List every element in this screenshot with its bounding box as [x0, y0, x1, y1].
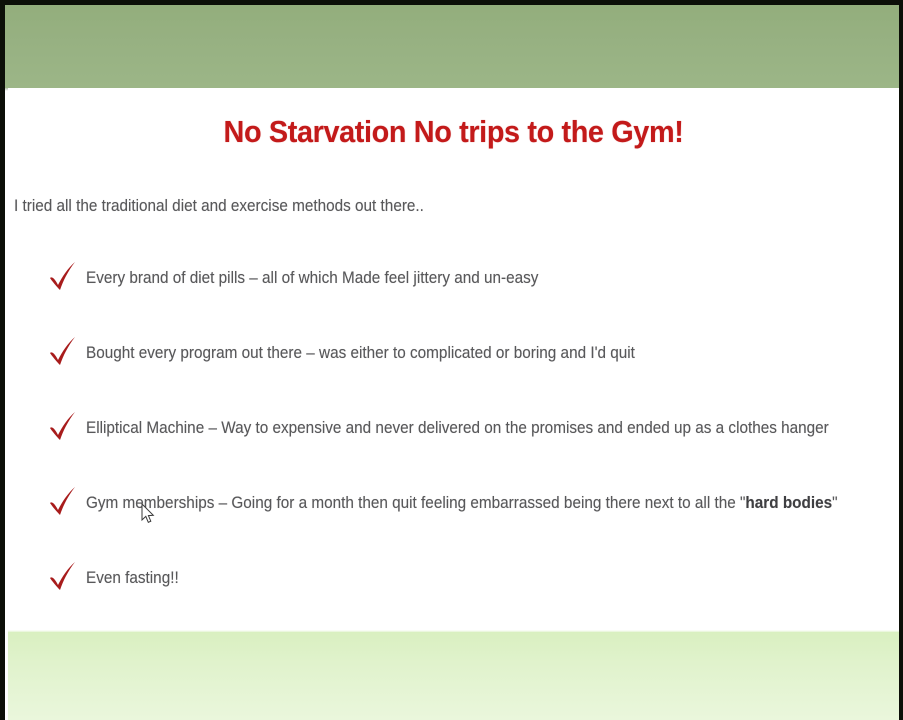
bullet-text-emphasis: hard bodies: [745, 493, 832, 512]
slide-body: No Starvation No trips to the Gym! I tri…: [8, 88, 899, 632]
frame-edge-right: [899, 0, 903, 720]
frame-edge-left: [0, 0, 5, 720]
bullet-text: Even fasting!!: [86, 568, 179, 588]
bullet-text-after: ": [832, 493, 837, 512]
bullet-text: Gym memberships – Going for a month then…: [86, 493, 838, 513]
bullet-item: Gym memberships – Going for a month then…: [8, 491, 899, 566]
bullet-text-before: Gym memberships – Going for a month then…: [86, 493, 745, 512]
bullet-text: Elliptical Machine – Way to expensive an…: [86, 418, 829, 438]
bullet-item: Every brand of diet pills – all of which…: [8, 266, 899, 341]
red-check-icon: [46, 335, 80, 369]
bullet-list: Every brand of diet pills – all of which…: [8, 266, 899, 641]
slide-title: No Starvation No trips to the Gym!: [39, 114, 868, 150]
bullet-item: Bought every program out there – was eit…: [8, 341, 899, 416]
frame-edge-top: [0, 0, 903, 5]
slide-frame: No Starvation No trips to the Gym! I tri…: [0, 0, 903, 720]
bullet-item: Elliptical Machine – Way to expensive an…: [8, 416, 899, 491]
intro-text: I tried all the traditional diet and exe…: [14, 196, 424, 216]
red-check-icon: [46, 410, 80, 444]
red-check-icon: [46, 485, 80, 519]
header-green-band: [5, 5, 899, 88]
red-check-icon: [46, 560, 80, 594]
footer-green-band: [8, 632, 899, 720]
bullet-text: Every brand of diet pills – all of which…: [86, 268, 538, 288]
bullet-text: Bought every program out there – was eit…: [86, 343, 635, 363]
red-check-icon: [46, 260, 80, 294]
